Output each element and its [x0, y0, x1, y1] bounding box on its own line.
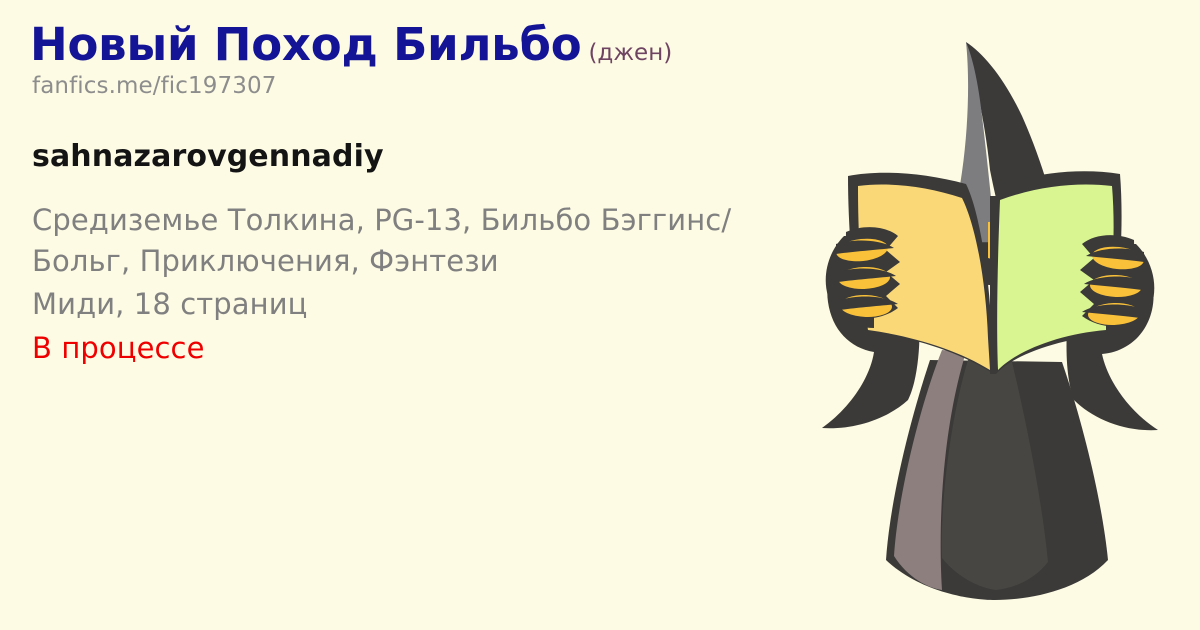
- page-title: Новый Поход Бильбо: [30, 18, 581, 71]
- story-tags: Средиземье Толкина, PG-13, Бильбо Бэггин…: [32, 200, 817, 282]
- author-name[interactable]: sahnazarovgennadiy: [32, 139, 820, 174]
- metadata-block: Средиземье Толкина, PG-13, Бильбо Бэггин…: [32, 200, 817, 369]
- story-size: Миди, 18 страниц: [32, 284, 817, 325]
- title-row: Новый Поход Бильбо(джен): [30, 22, 820, 67]
- status-badge: В процессе: [32, 328, 817, 369]
- fanfic-preview-card: Новый Поход Бильбо(джен) fanfics.me/fic1…: [0, 0, 1200, 630]
- wizard-reading-book-illustration: [790, 0, 1190, 630]
- story-url[interactable]: fanfics.me/fic197307: [32, 73, 820, 99]
- story-category-label: (джен): [581, 40, 672, 66]
- text-column: Новый Поход Бильбо(джен) fanfics.me/fic1…: [30, 22, 820, 369]
